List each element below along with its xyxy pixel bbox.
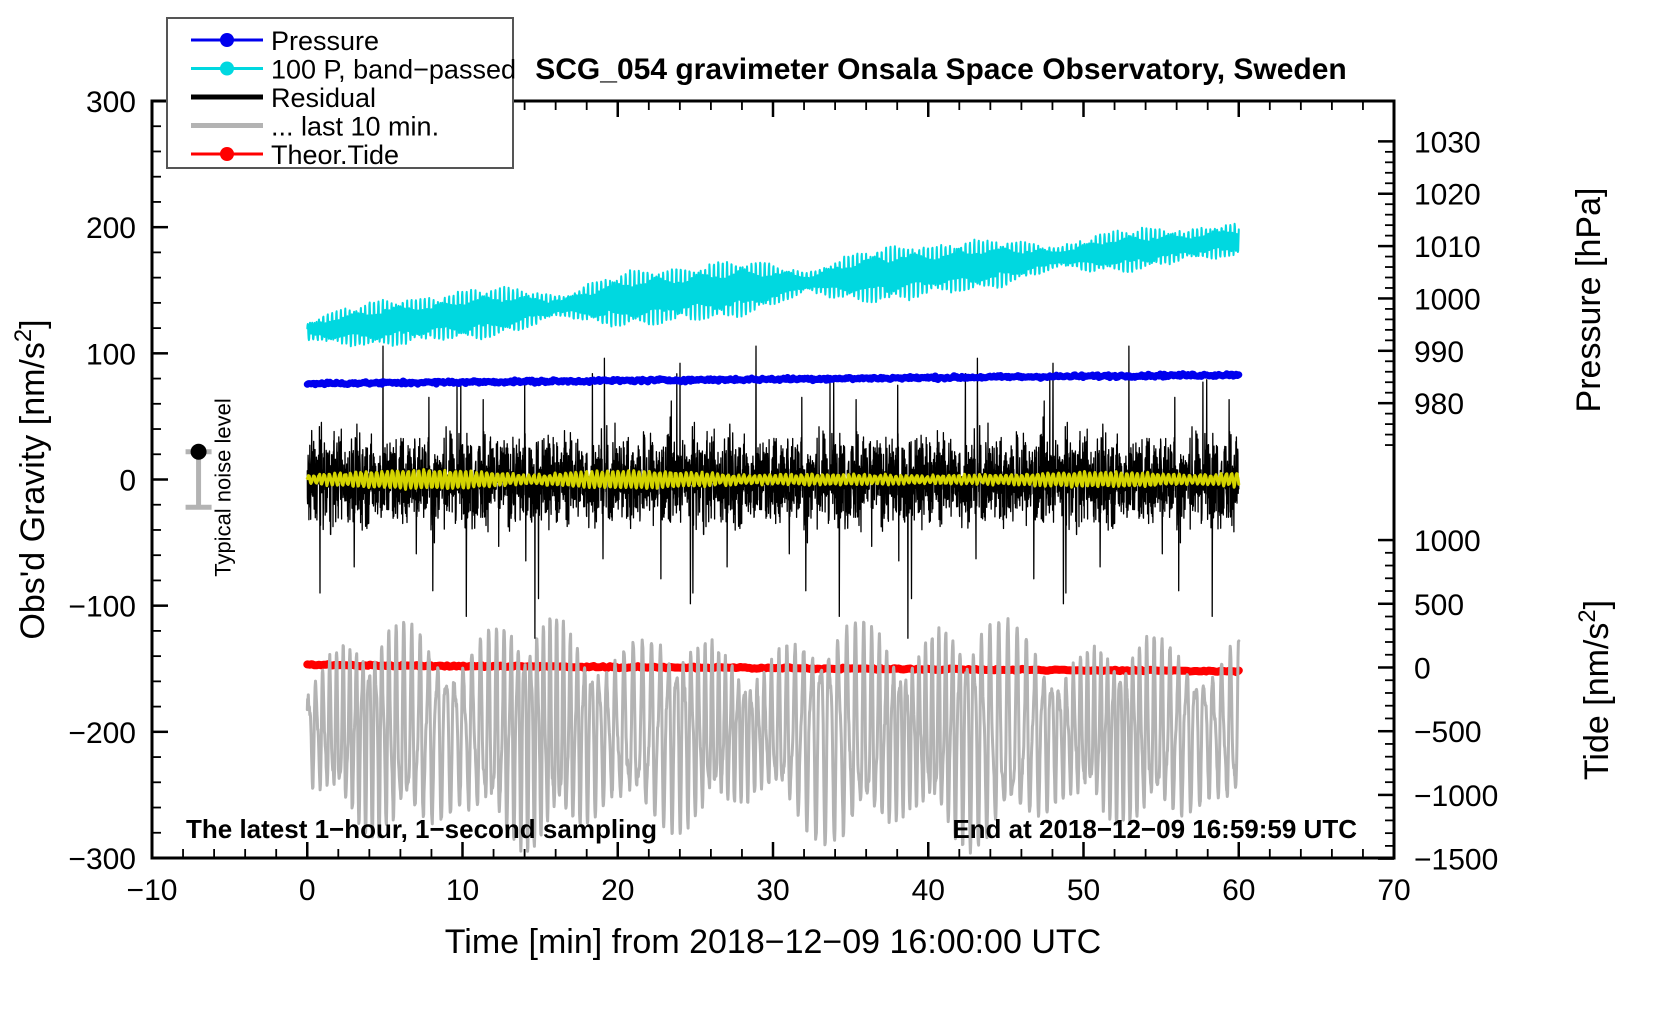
trace-band-passed	[307, 224, 1239, 346]
x-tick-label: −10	[127, 874, 178, 907]
y-left-tick-label: 300	[86, 86, 136, 119]
y-right-bottom-axis-title: Tide [nm/s2]	[1574, 600, 1617, 780]
x-tick-label: 0	[299, 874, 316, 907]
y-right-top-tick-label: 1030	[1414, 126, 1481, 159]
y-right-bottom-tick-label: 0	[1414, 652, 1431, 685]
y-right-top-tick-label: 1000	[1414, 283, 1481, 316]
x-axis-title: Time [min] from 2018−12−09 16:00:00 UTC	[445, 923, 1101, 961]
y-left-tick-label: 200	[86, 212, 136, 245]
annotation-bottom-left: The latest 1−hour, 1−second sampling	[186, 814, 657, 844]
x-tick-label: 20	[601, 874, 634, 907]
legend-marker-4	[220, 147, 234, 161]
legend-label-1: 100 P, band−passed	[271, 55, 516, 85]
noise-level-label: Typical noise level	[211, 398, 236, 577]
y-left-axis-title: Obs'd Gravity [nm/s2]	[10, 319, 53, 639]
y-left-tick-label: 100	[86, 338, 136, 371]
y-right-top-tick-label: 990	[1414, 336, 1464, 369]
y-right-top-axis-title: Pressure [hPa]	[1570, 188, 1608, 413]
x-tick-label: 60	[1222, 874, 1255, 907]
y-left-tick-label: −100	[68, 591, 136, 624]
y-left-tick-label: −200	[68, 717, 136, 750]
y-left-tick-label: −300	[68, 843, 136, 876]
y-right-bottom-tick-label: 1000	[1414, 525, 1481, 558]
x-tick-label: 50	[1067, 874, 1100, 907]
y-right-bottom-tick-label: −1500	[1414, 844, 1498, 877]
y-right-top-tick-label: 1020	[1414, 179, 1481, 212]
y-right-top-tick-label: 1010	[1414, 231, 1481, 264]
legend-label-0: Pressure	[271, 26, 379, 56]
y-right-bottom-tick-label: 500	[1414, 589, 1464, 622]
legend-marker-1	[220, 62, 234, 76]
trace-residual	[307, 346, 1239, 638]
legend-label-4: Theor.Tide	[271, 140, 399, 170]
noise-marker-dot	[191, 444, 207, 460]
trace-pressure	[307, 374, 1239, 385]
x-tick-label: 30	[756, 874, 789, 907]
y-left-tick-label: 0	[119, 465, 136, 498]
chart-root: −10010203040506070Time [min] from 2018−1…	[0, 0, 1660, 1020]
legend-label-2: Residual	[271, 83, 376, 113]
chart-title: SCG_054 gravimeter Onsala Space Observat…	[535, 53, 1347, 86]
legend-label-3: ... last 10 min.	[271, 112, 439, 142]
y-right-top-tick-label: 980	[1414, 388, 1464, 421]
y-right-bottom-tick-label: −1000	[1414, 780, 1498, 813]
annotation-bottom-right: End at 2018−12−09 16:59:59 UTC	[952, 814, 1357, 844]
legend-marker-0	[220, 33, 234, 47]
gravimeter-chart: −10010203040506070Time [min] from 2018−1…	[0, 0, 1660, 1020]
y-right-bottom-tick-label: −500	[1414, 716, 1482, 749]
x-tick-label: 40	[912, 874, 945, 907]
x-tick-label: 70	[1377, 874, 1410, 907]
x-tick-label: 10	[446, 874, 479, 907]
